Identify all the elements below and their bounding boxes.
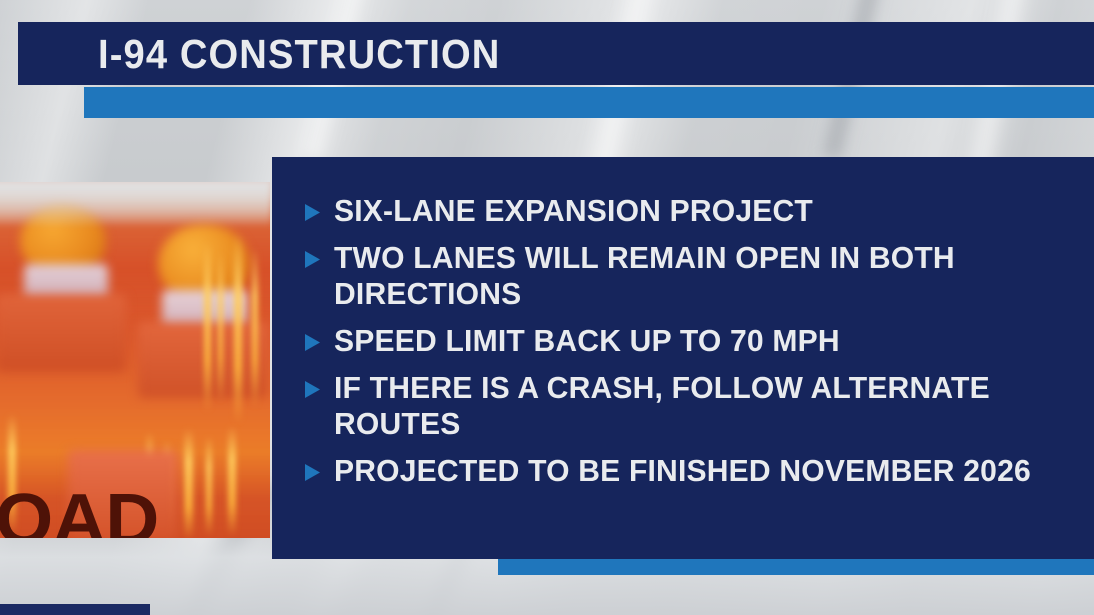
bullet-list: SIX-LANE EXPANSION PROJECTTWO LANES WILL… (305, 193, 1082, 500)
bullet-item: IF THERE IS A CRASH, FOLLOW ALTERNATE RO… (305, 370, 1082, 442)
photo-light-streak (228, 426, 236, 536)
photo-light-streak (184, 428, 193, 538)
bullet-item-label: SIX-LANE EXPANSION PROJECT (334, 193, 813, 229)
bullet-item-label: PROJECTED TO BE FINISHED NOVEMBER 2026 (334, 453, 1031, 489)
construction-barrel-icon (138, 322, 268, 398)
photo-light-streak (204, 242, 211, 412)
bullet-item: SPEED LIMIT BACK UP TO 70 MPH (305, 323, 1082, 359)
bullet-item: SIX-LANE EXPANSION PROJECT (305, 193, 1082, 229)
road-construction-photo: ROAD CONSTRUCTION (0, 182, 270, 538)
broadcast-graphic: ROAD CONSTRUCTION I-94 CONSTRUCTION SIX-… (0, 0, 1094, 615)
title-accent-bar (84, 87, 1094, 118)
bullet-panel: SIX-LANE EXPANSION PROJECTTWO LANES WILL… (272, 157, 1094, 559)
photo-light-streak (206, 436, 212, 536)
lower-third-sliver (0, 604, 150, 615)
bullet-item: PROJECTED TO BE FINISHED NOVEMBER 2026 (305, 453, 1082, 489)
page-title: I-94 CONSTRUCTION (98, 26, 500, 82)
bottom-accent-bar (498, 559, 1094, 575)
triangle-right-icon (305, 464, 320, 481)
bullet-item-label: IF THERE IS A CRASH, FOLLOW ALTERNATE RO… (334, 370, 1060, 442)
bullet-item: TWO LANES WILL REMAIN OPEN IN BOTH DIREC… (305, 240, 1082, 312)
triangle-right-icon (305, 381, 320, 398)
bullet-item-label: TWO LANES WILL REMAIN OPEN IN BOTH DIREC… (334, 240, 1060, 312)
bullet-item-label: SPEED LIMIT BACK UP TO 70 MPH (334, 323, 840, 359)
photo-light-streak (218, 252, 223, 402)
construction-barrel-icon (0, 294, 126, 372)
triangle-right-icon (305, 251, 320, 268)
triangle-right-icon (305, 204, 320, 221)
photo-light-streak (252, 248, 258, 408)
photo-highlight (0, 182, 270, 228)
photo-light-streak (234, 234, 242, 424)
photo-overlay-headline: ROAD (0, 484, 158, 538)
triangle-right-icon (305, 334, 320, 351)
